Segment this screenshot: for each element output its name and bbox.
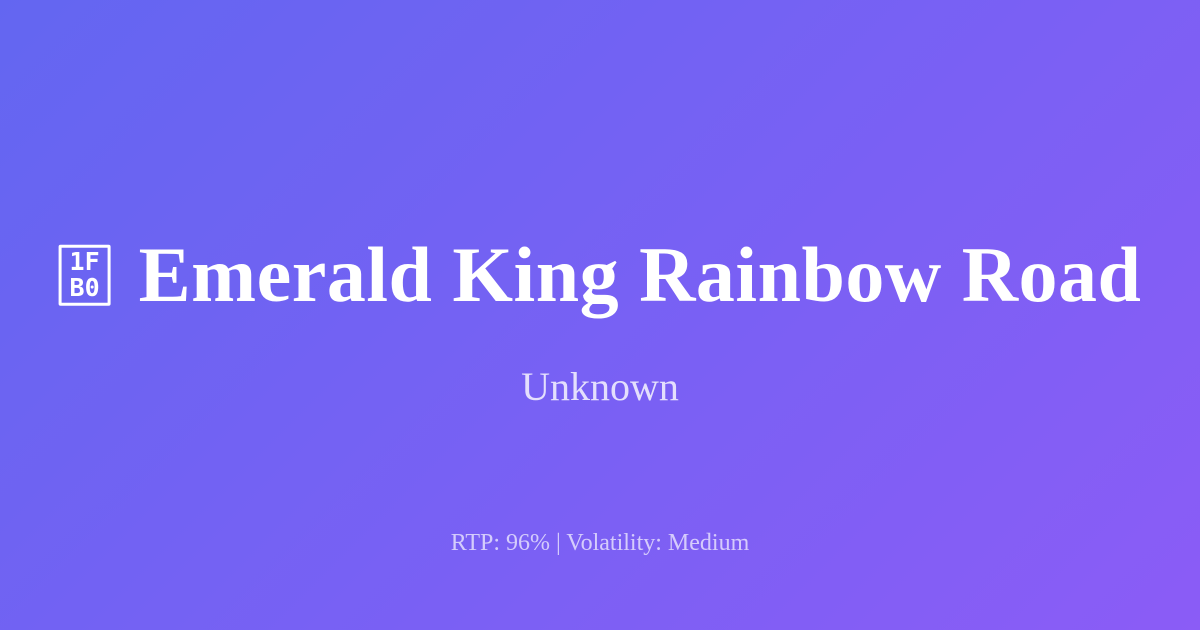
slot-machine-emoji-tofu-icon: 1F B0	[59, 245, 111, 306]
tofu-codepoint-bottom: B0	[70, 275, 100, 302]
title-row: 1F B0 Emerald King Rainbow Road	[59, 184, 1142, 367]
og-preview-card: 1F B0 Emerald King Rainbow Road Unknown …	[0, 0, 1200, 630]
page-title: Emerald King Rainbow Road	[139, 236, 1142, 314]
tofu-codepoint-top: 1F	[70, 249, 100, 276]
subtitle: Unknown	[0, 367, 1200, 407]
game-meta-line: RTP: 96% | Volatility: Medium	[0, 531, 1200, 555]
